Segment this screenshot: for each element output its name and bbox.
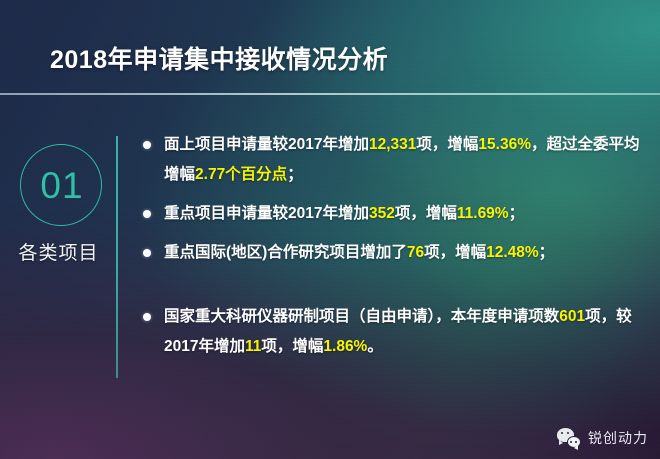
bullet-dot-icon: [143, 210, 151, 218]
highlight-value: 352: [369, 205, 395, 222]
bullet-dot-icon: [143, 313, 151, 321]
header-divider: [0, 93, 660, 95]
bullet-text: 重点国际(地区)合作研究项目增加了: [164, 244, 407, 261]
highlight-value: 601: [559, 308, 585, 325]
bullet-text: 面上项目申请量较2017年增加: [164, 136, 369, 153]
highlight-value: 2.77个百分点: [195, 166, 287, 183]
wechat-icon: [557, 428, 581, 448]
section-marker: 01 各类项目: [0, 130, 117, 290]
page-title: 2018年申请集中接收情况分析: [50, 40, 388, 76]
bullet-text: 。: [367, 338, 383, 355]
highlight-value: 11: [245, 338, 261, 355]
highlight-value: 15.36%: [478, 136, 531, 153]
brand-name: 锐创动力: [588, 428, 648, 448]
bullet-dot-icon: [143, 141, 151, 149]
vertical-divider: [116, 136, 118, 378]
highlight-value: 12.48%: [486, 244, 539, 261]
highlight-value: 1.86%: [323, 338, 367, 355]
highlight-value: 11.69%: [457, 205, 509, 222]
section-number-circle: 01: [20, 144, 102, 226]
bullet-text: 国家重大科研仪器研制项目（自由申请），本年度申请项数: [164, 308, 559, 325]
bullet-text: 项，增幅: [395, 205, 457, 222]
bullet-international-cooperation: 重点国际(地区)合作研究项目增加了76项，增幅12.48%；: [140, 238, 652, 268]
bullet-list: 面上项目申请量较2017年增加12,331项，增幅15.36%，超过全委平均增幅…: [140, 130, 652, 371]
bullet-text: ；: [539, 244, 555, 261]
highlight-value: 76: [407, 244, 424, 261]
bullet-text: ；: [287, 166, 303, 183]
bullet-text: ；: [509, 205, 525, 222]
bullet-major-instrument: 国家重大科研仪器研制项目（自由申请），本年度申请项数601项，较2017年增加1…: [140, 302, 652, 362]
bullet-text: 项，增幅: [261, 338, 323, 355]
section-number: 01: [21, 145, 103, 227]
bullet-text: 项，增幅: [424, 244, 486, 261]
bullet-text: 重点项目申请量较2017年增加: [164, 205, 369, 222]
bullet-general-program: 面上项目申请量较2017年增加12,331项，增幅15.36%，超过全委平均增幅…: [140, 130, 652, 190]
section-label: 各类项目: [0, 238, 117, 265]
highlight-value: 12,331: [369, 136, 416, 153]
bullet-key-program: 重点项目申请量较2017年增加352项，增幅11.69%；: [140, 199, 652, 229]
bullet-text: 项，增幅: [416, 136, 478, 153]
slide-root: 2018年申请集中接收情况分析 01 各类项目 面上项目申请量较2017年增加1…: [0, 0, 660, 459]
bullet-dot-icon: [143, 249, 151, 257]
footer-brand: 锐创动力: [557, 428, 648, 448]
slide-header: 2018年申请集中接收情况分析: [0, 0, 660, 93]
